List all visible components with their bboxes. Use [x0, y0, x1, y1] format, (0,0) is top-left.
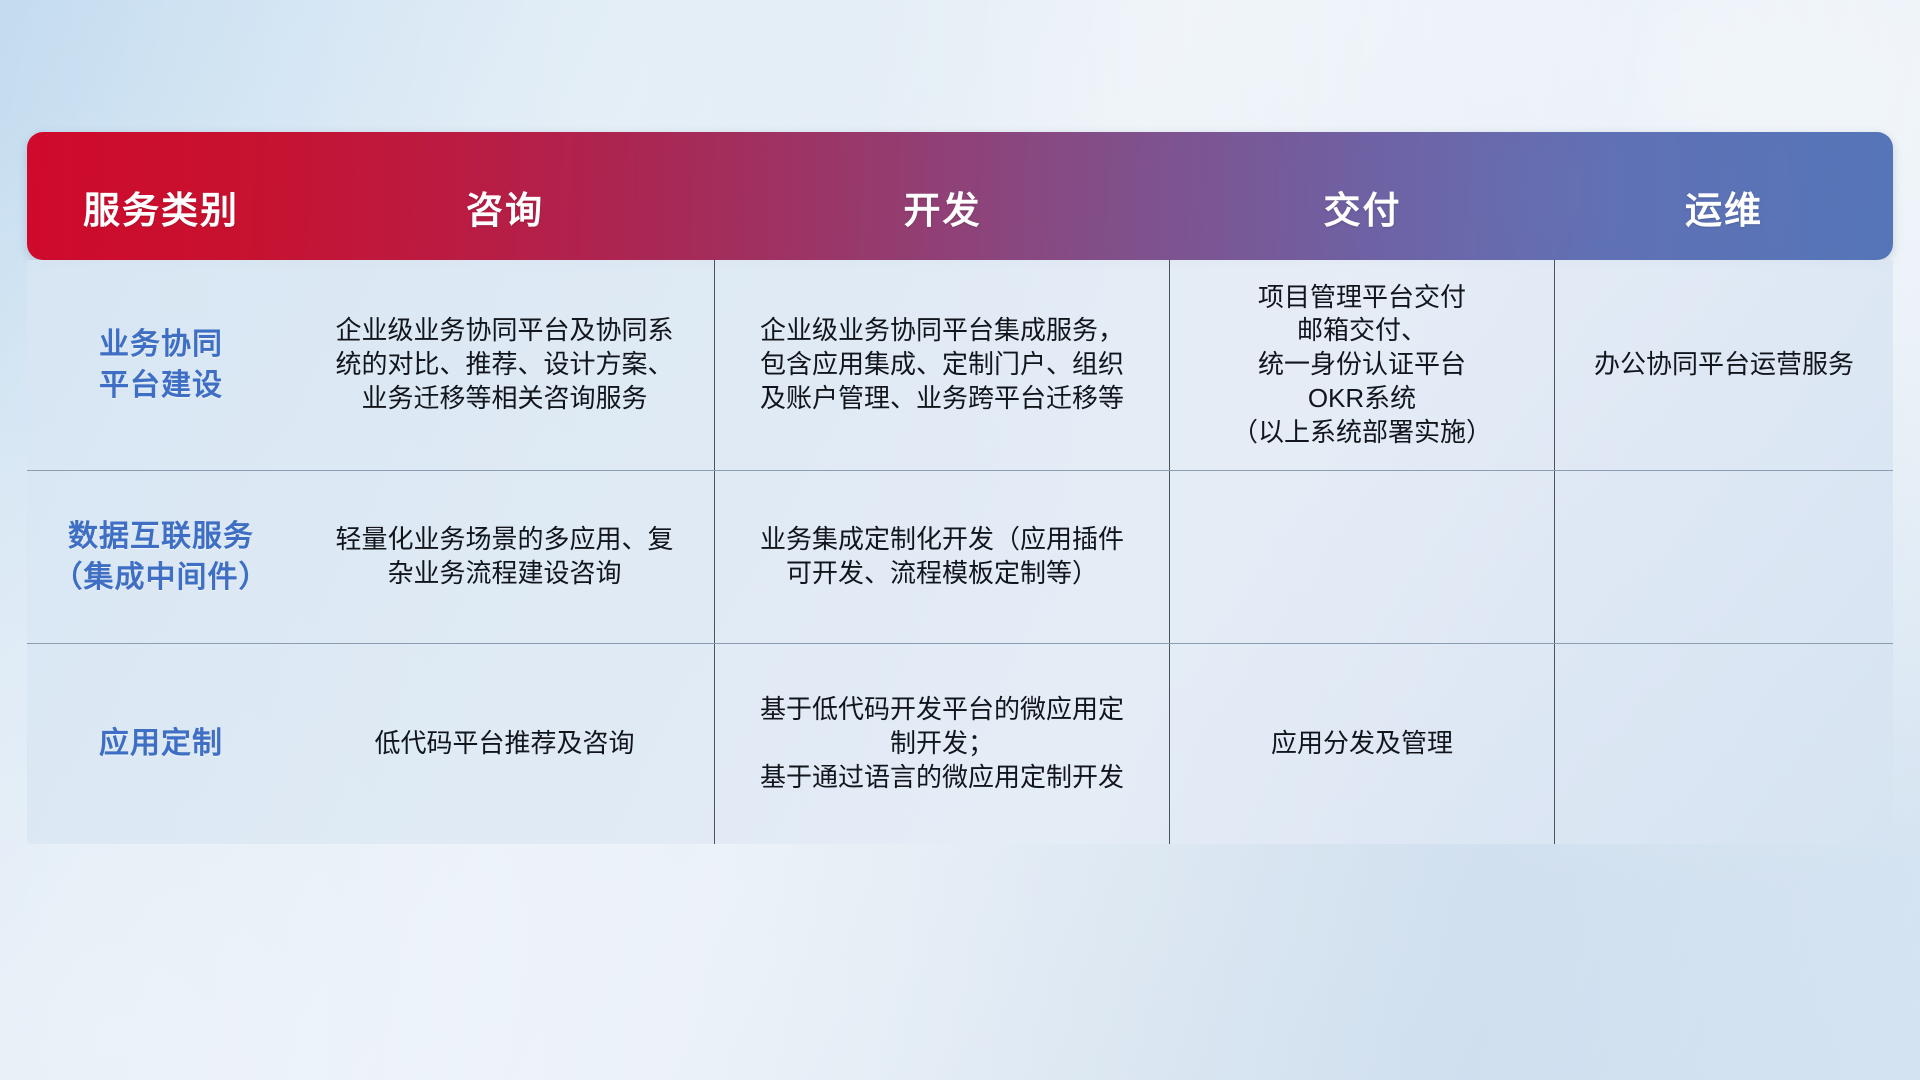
- slide-canvas: 服务类别 咨询 开发 交付 运维 业务协同 平台建设 企业级业务协同平台及协同系…: [0, 0, 1920, 1080]
- column-header-consulting: 咨询: [295, 180, 715, 260]
- table-header-row: 服务类别 咨询 开发 交付 运维: [27, 132, 1893, 260]
- cell-operations: 办公协同平台运营服务: [1555, 260, 1893, 470]
- cell-delivery: 项目管理平台交付 邮箱交付、 统一身份认证平台 OKR系统 （以上系统部署实施）: [1170, 260, 1555, 470]
- cell-consulting: 轻量化业务场景的多应用、复 杂业务流程建设咨询: [295, 471, 715, 643]
- row-category-label: 业务协同 平台建设: [27, 260, 295, 470]
- table-row: 应用定制 低代码平台推荐及咨询 基于低代码开发平台的微应用定 制开发； 基于通过…: [27, 644, 1893, 844]
- cell-development: 企业级业务协同平台集成服务， 包含应用集成、定制门户、组织 及账户管理、业务跨平…: [715, 260, 1170, 470]
- table-row: 数据互联服务 （集成中间件） 轻量化业务场景的多应用、复 杂业务流程建设咨询 业…: [27, 471, 1893, 644]
- cell-delivery: 应用分发及管理: [1170, 644, 1555, 844]
- row-category-label: 应用定制: [27, 644, 295, 844]
- column-header-operations: 运维: [1555, 180, 1893, 260]
- cell-development: 业务集成定制化开发（应用插件 可开发、流程模板定制等）: [715, 471, 1170, 643]
- cell-development: 基于低代码开发平台的微应用定 制开发； 基于通过语言的微应用定制开发: [715, 644, 1170, 844]
- table-row: 业务协同 平台建设 企业级业务协同平台及协同系 统的对比、推荐、设计方案、 业务…: [27, 260, 1893, 471]
- cell-delivery: [1170, 471, 1555, 643]
- service-matrix-table: 服务类别 咨询 开发 交付 运维 业务协同 平台建设 企业级业务协同平台及协同系…: [27, 132, 1893, 844]
- table-body: 业务协同 平台建设 企业级业务协同平台及协同系 统的对比、推荐、设计方案、 业务…: [27, 260, 1893, 844]
- column-header-development: 开发: [715, 180, 1170, 260]
- column-header-delivery: 交付: [1170, 180, 1555, 260]
- row-category-label: 数据互联服务 （集成中间件）: [27, 471, 295, 643]
- column-header-service-category: 服务类别: [27, 180, 295, 260]
- cell-consulting: 企业级业务协同平台及协同系 统的对比、推荐、设计方案、 业务迁移等相关咨询服务: [295, 260, 715, 470]
- cell-operations: [1555, 644, 1893, 844]
- cell-operations: [1555, 471, 1893, 643]
- cell-consulting: 低代码平台推荐及咨询: [295, 644, 715, 844]
